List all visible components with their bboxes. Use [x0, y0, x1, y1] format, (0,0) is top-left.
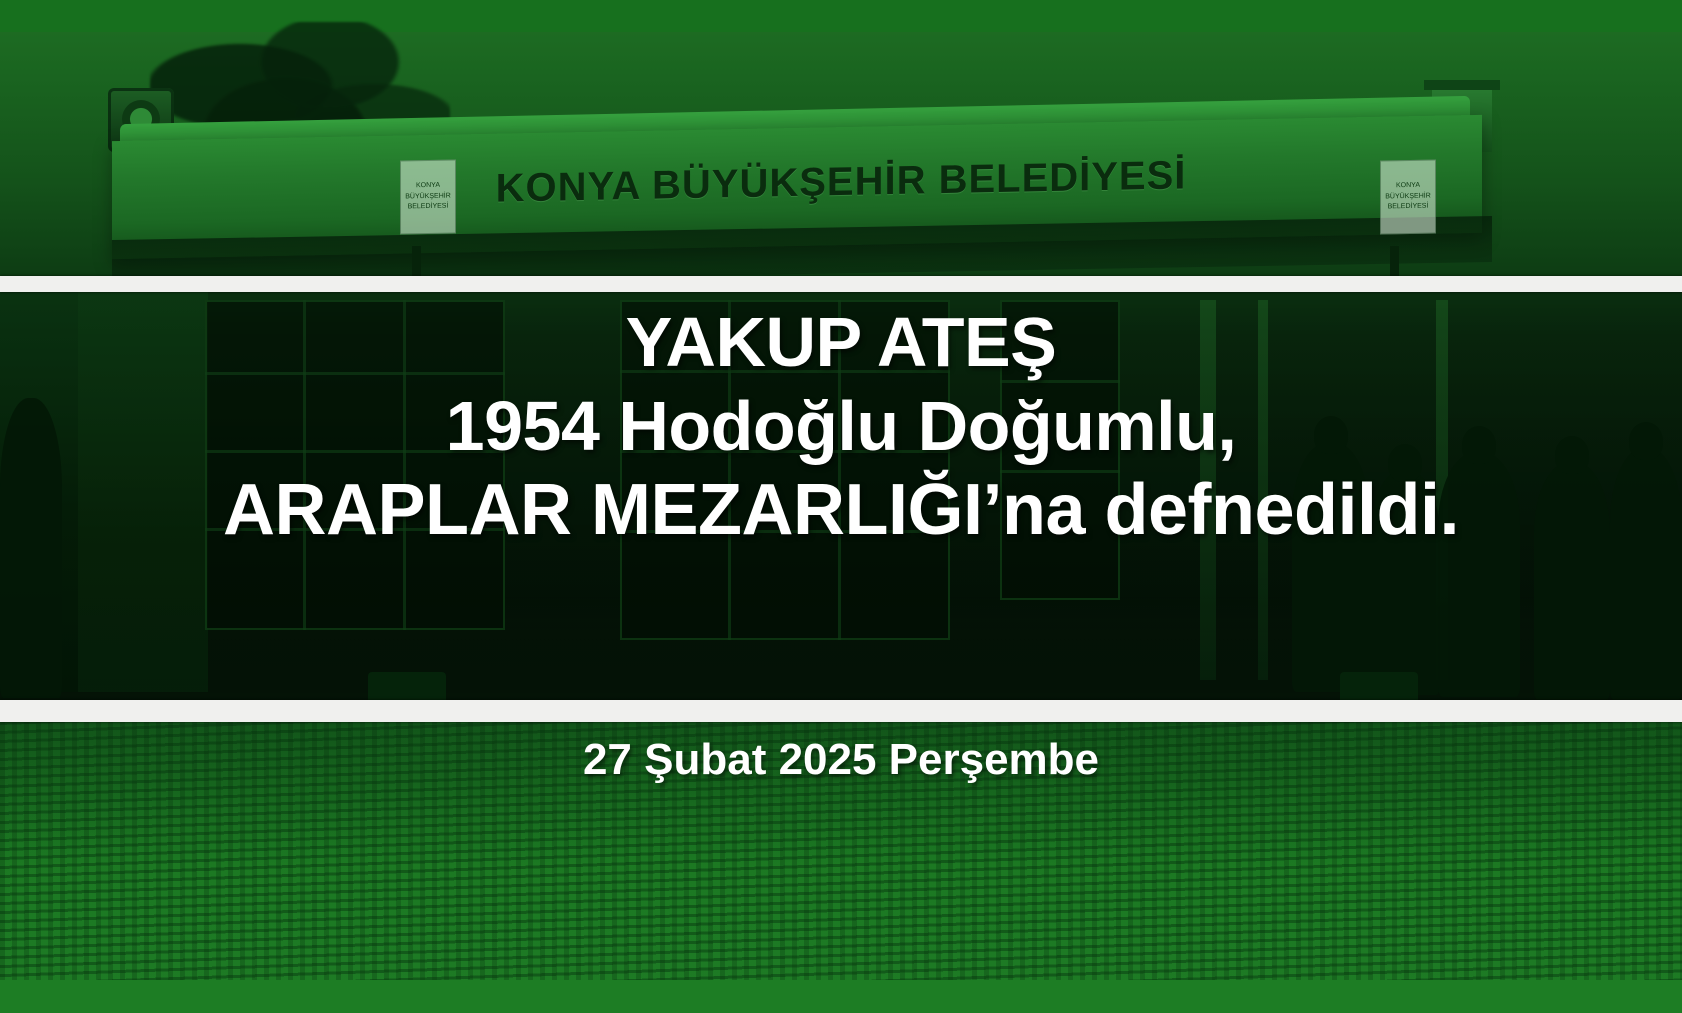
divider-bottom: [0, 700, 1682, 722]
birth-info: 1954 Hodoğlu Doğumlu,: [20, 384, 1662, 468]
bottom-green-strip: [0, 980, 1682, 1013]
announcement-date: 27 Şubat 2025 Perşembe: [0, 735, 1682, 785]
memorial-poster: KONYA BÜYÜKŞEHİR BELEDİYESİ KONYA BÜYÜKŞ…: [0, 0, 1682, 1013]
burial-info: ARAPLAR MEZARLIĞI’na defnedildi.: [20, 468, 1662, 552]
divider-top: [0, 276, 1682, 292]
deceased-name: YAKUP ATEŞ: [20, 300, 1662, 384]
announcement-text-block: YAKUP ATEŞ 1954 Hodoğlu Doğumlu, ARAPLAR…: [0, 300, 1682, 552]
